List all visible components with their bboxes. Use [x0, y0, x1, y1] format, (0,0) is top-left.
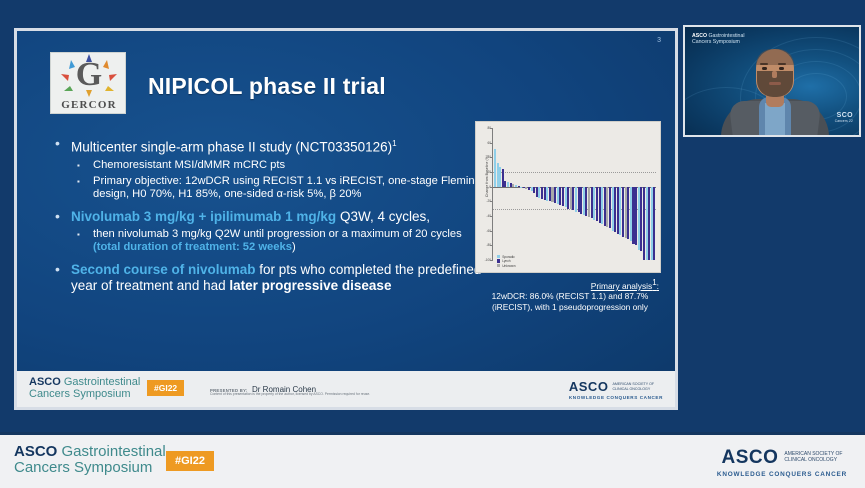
gercor-wordmark: GERCOR [51, 99, 127, 111]
bottom-hashtag-badge: #GI22 [166, 451, 214, 471]
chart-y-axis [492, 128, 493, 260]
bottom-asco-logo: ASCO Gastrointestinal Cancers Symposium [14, 444, 166, 476]
slide-footer-asco-mark: ASCO AMERICAN SOCIETY OFCLINICAL ONCOLOG… [569, 379, 663, 400]
bullet-level2: then nivolumab 3 mg/kg Q2W until progres… [69, 228, 487, 254]
slide-footer-hashtag: #GI22 [147, 380, 184, 396]
sf-asco-line2: Cancers Symposium [29, 388, 140, 400]
sf-asco-sub2: CLINICAL ONCOLOGY [612, 387, 650, 391]
sub-bullet-group: then nivolumab 3 mg/kg Q2W until progres… [69, 228, 487, 254]
bb-asco-sub1: AMERICAN SOCIETY OF [784, 451, 842, 457]
primary-analysis-line1: 12wDCR: 86.0% (RECIST 1.1) and 87.7% [492, 291, 649, 301]
primary-analysis-line2: (iRECIST), with 1 pseudoprogression only [492, 302, 648, 312]
primary-analysis-note: Primary analysis1: 12wDCR: 86.0% (RECIST… [475, 278, 665, 312]
bullet-segment: Nivolumab 3 mg/kg + ipilimumab 1 mg/kg [71, 209, 336, 224]
primary-analysis-sup: 1 [652, 278, 656, 287]
slide-footer-disclaimer: Content of this presentation is the prop… [210, 392, 370, 396]
chart-legend-swatch [497, 259, 500, 262]
chart-legend: SporadicLynchUnknown [497, 255, 515, 269]
bullet-segment: (total duration of treatment: 52 weeks [93, 241, 292, 253]
video-overlay-line2: Cancers Symposium [692, 39, 740, 45]
speaker-video-panel[interactable]: ASCO Gastrointestinal Cancers Symposium … [683, 25, 861, 137]
bb-asco-bold: ASCO [14, 443, 57, 460]
slide-canvas: 3 G GERCOR NIPICO [17, 31, 675, 407]
bullet-segment: later progressive disease [229, 278, 391, 293]
chart-plot-area: Change from Baseline (%) 806040200-20-40… [476, 122, 660, 272]
bottom-branding-bar: ASCO Gastrointestinal Cancers Symposium … [0, 432, 865, 488]
bullet-segment: Multicenter single-arm phase II study (N… [71, 140, 392, 155]
bullet-segment: ) [292, 241, 296, 253]
screen: 3 G GERCOR NIPICO [0, 0, 865, 488]
chart-legend-label: Sporadic [502, 255, 515, 259]
slide-footer-asco-logo: ASCO Gastrointestinal Cancers Symposium [29, 376, 140, 400]
bb-asco-sub2: CLINICAL ONCOLOGY [784, 457, 837, 463]
bottom-asco-mark: ASCO AMERICAN SOCIETY OFCLINICAL ONCOLOG… [717, 447, 847, 478]
bb-asco-tagline: KNOWLEDGE CONQUERS CANCER [717, 471, 847, 478]
bullet-level1: Multicenter single-arm phase II study (N… [47, 136, 487, 156]
waterfall-chart: Change from Baseline (%) 806040200-20-40… [475, 121, 661, 273]
video-overlay-rest: Gastrointestinal [707, 33, 744, 39]
chart-legend-swatch [497, 255, 500, 258]
bb-asco-wordmark: ASCO [722, 447, 779, 469]
page-title: NIPICOL phase II trial [148, 73, 386, 100]
bb-asco-rest: Gastrointestinal [57, 443, 165, 460]
speaker-figure [725, 41, 825, 137]
video-overlay-logo: ASCO Gastrointestinal Cancers Symposium [692, 33, 744, 46]
chart-tick-mark [490, 216, 493, 217]
chart-bar [653, 187, 655, 260]
chart-bars [494, 128, 656, 260]
bullet-level2: Primary objective: 12wDCR using RECIST 1… [69, 175, 487, 201]
bullet-segment: Second course of nivolumab [71, 262, 256, 277]
bullet-segment: Chemoresistant MSI/dMMR mCRC pts [93, 159, 285, 171]
gercor-g-letter: G [51, 55, 127, 95]
gercor-logo: G GERCOR [50, 52, 126, 114]
bullet-segment: Primary objective: 12wDCR using RECIST 1… [93, 175, 481, 200]
bullet-segment: Q3W, 4 cycles, [336, 209, 430, 224]
sf-asco-rest: Gastrointestinal [61, 376, 140, 388]
video-overlay-bold: ASCO [692, 33, 707, 39]
sf-asco-tagline: KNOWLEDGE CONQUERS CANCER [569, 395, 663, 400]
bullet-list: Multicenter single-arm phase II study (N… [47, 128, 487, 294]
chart-tick-mark [490, 128, 493, 129]
slide-frame: 3 G GERCOR NIPICO [14, 28, 678, 410]
chart-legend-item: Sporadic [497, 255, 515, 259]
primary-analysis-title: Primary analysis1: [475, 278, 665, 291]
presentation-area: 3 G GERCOR NIPICO [0, 0, 865, 430]
video-badge-bottom: Cancers 22 [835, 119, 853, 123]
chart-legend-label: Unknown [502, 264, 515, 268]
bullet-level1: Nivolumab 3 mg/kg + ipilimumab 1 mg/kg Q… [47, 209, 487, 225]
chart-tick-mark [490, 260, 493, 261]
chart-tick-mark [490, 231, 493, 232]
bullet-segment: then nivolumab 3 mg/kg Q2W until progres… [93, 228, 462, 240]
bullet-level2: Chemoresistant MSI/dMMR mCRC pts [69, 159, 487, 172]
chart-legend-label: Lynch [502, 259, 510, 263]
chart-tick-mark [490, 157, 493, 158]
chart-tick-mark [490, 143, 493, 144]
slide-number: 3 [657, 37, 661, 44]
chart-legend-swatch [497, 264, 500, 267]
video-corner-badge: SCO Cancers 22 [835, 112, 853, 123]
chart-legend-item: Unknown [497, 264, 515, 268]
video-badge-top: SCO [835, 112, 853, 119]
chart-tick-mark [490, 201, 493, 202]
sf-asco-wordmark: ASCO [569, 379, 609, 394]
slide-footer: ASCO Gastrointestinal Cancers Symposium … [17, 371, 675, 407]
chart-legend-item: Lynch [497, 259, 515, 263]
chart-tick-mark [490, 245, 493, 246]
sf-asco-sub1: AMERICAN SOCIETY OF [612, 382, 654, 386]
bb-asco-line2: Cancers Symposium [14, 460, 166, 476]
bullet-segment: 1 [392, 139, 396, 148]
sub-bullet-group: Chemoresistant MSI/dMMR mCRC ptsPrimary … [69, 159, 487, 201]
bullet-level1: Second course of nivolumab for pts who c… [47, 262, 487, 294]
sf-asco-bold: ASCO [29, 376, 61, 388]
